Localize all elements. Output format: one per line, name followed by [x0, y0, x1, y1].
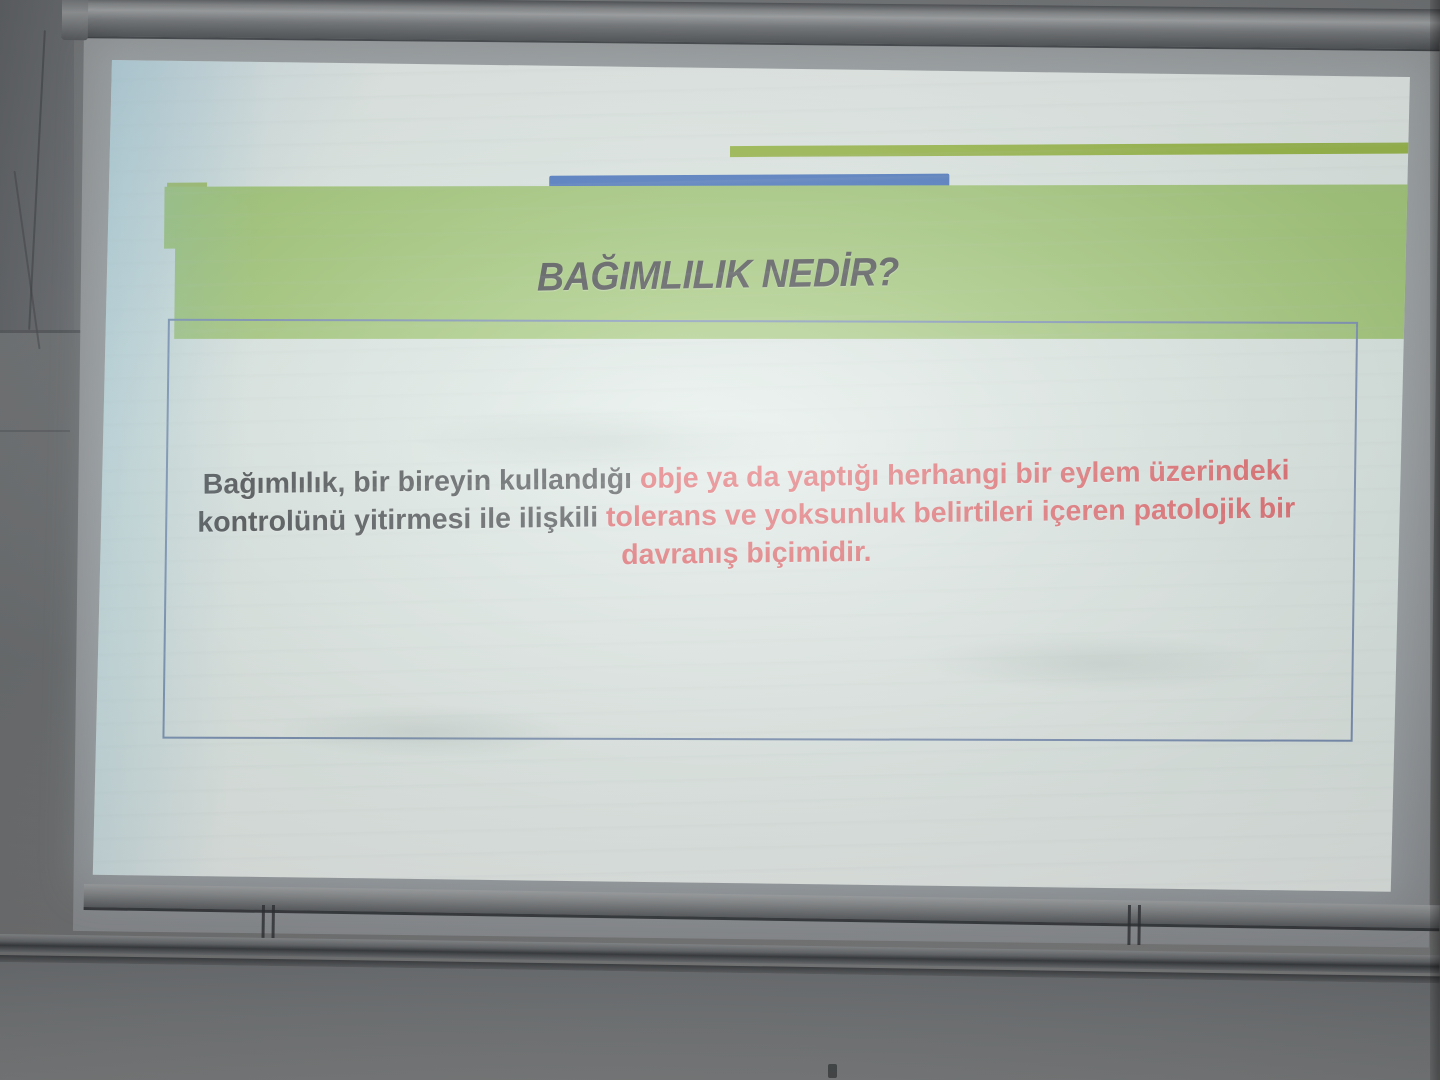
- screen-hanger-wire: [1127, 905, 1131, 945]
- slide-body-segment-2: kontrolünü yitirmesi ile ilişkili: [197, 502, 606, 539]
- screen-hanger-wire: [1137, 905, 1141, 945]
- wall-seam-lower: [0, 430, 70, 432]
- slide-body-segment-0: Bağımlılık, bir bireyin kullandığı: [203, 463, 640, 501]
- slide-title: BAĞIMLILIK NEDİR?: [537, 248, 1026, 300]
- slide-body-segment-1: obje ya da yaptığı herhangi bir eylem üz…: [640, 454, 1290, 494]
- projected-slide: BAĞIMLILIK NEDİR? Bağımlılık, bir bireyi…: [93, 60, 1410, 892]
- olive-accent-strip: [730, 142, 1410, 157]
- projector-screen-roller-cap: [62, 0, 88, 40]
- wall-mark: [828, 1064, 837, 1078]
- slide-body-text: Bağımlılık, bir bireyin kullandığı obje …: [181, 451, 1312, 580]
- right-wall-edge: [1430, 0, 1440, 1080]
- wall-seam: [0, 330, 86, 333]
- slide-body-segment-3: tolerans ve yoksunluk belirtileri içeren…: [606, 493, 1295, 572]
- slide-canvas: BAĞIMLILIK NEDİR? Bağımlılık, bir bireyi…: [93, 60, 1410, 892]
- classroom-photo-scene: BAĞIMLILIK NEDİR? Bağımlılık, bir bireyi…: [0, 0, 1440, 1080]
- lower-wall: [0, 962, 1440, 1080]
